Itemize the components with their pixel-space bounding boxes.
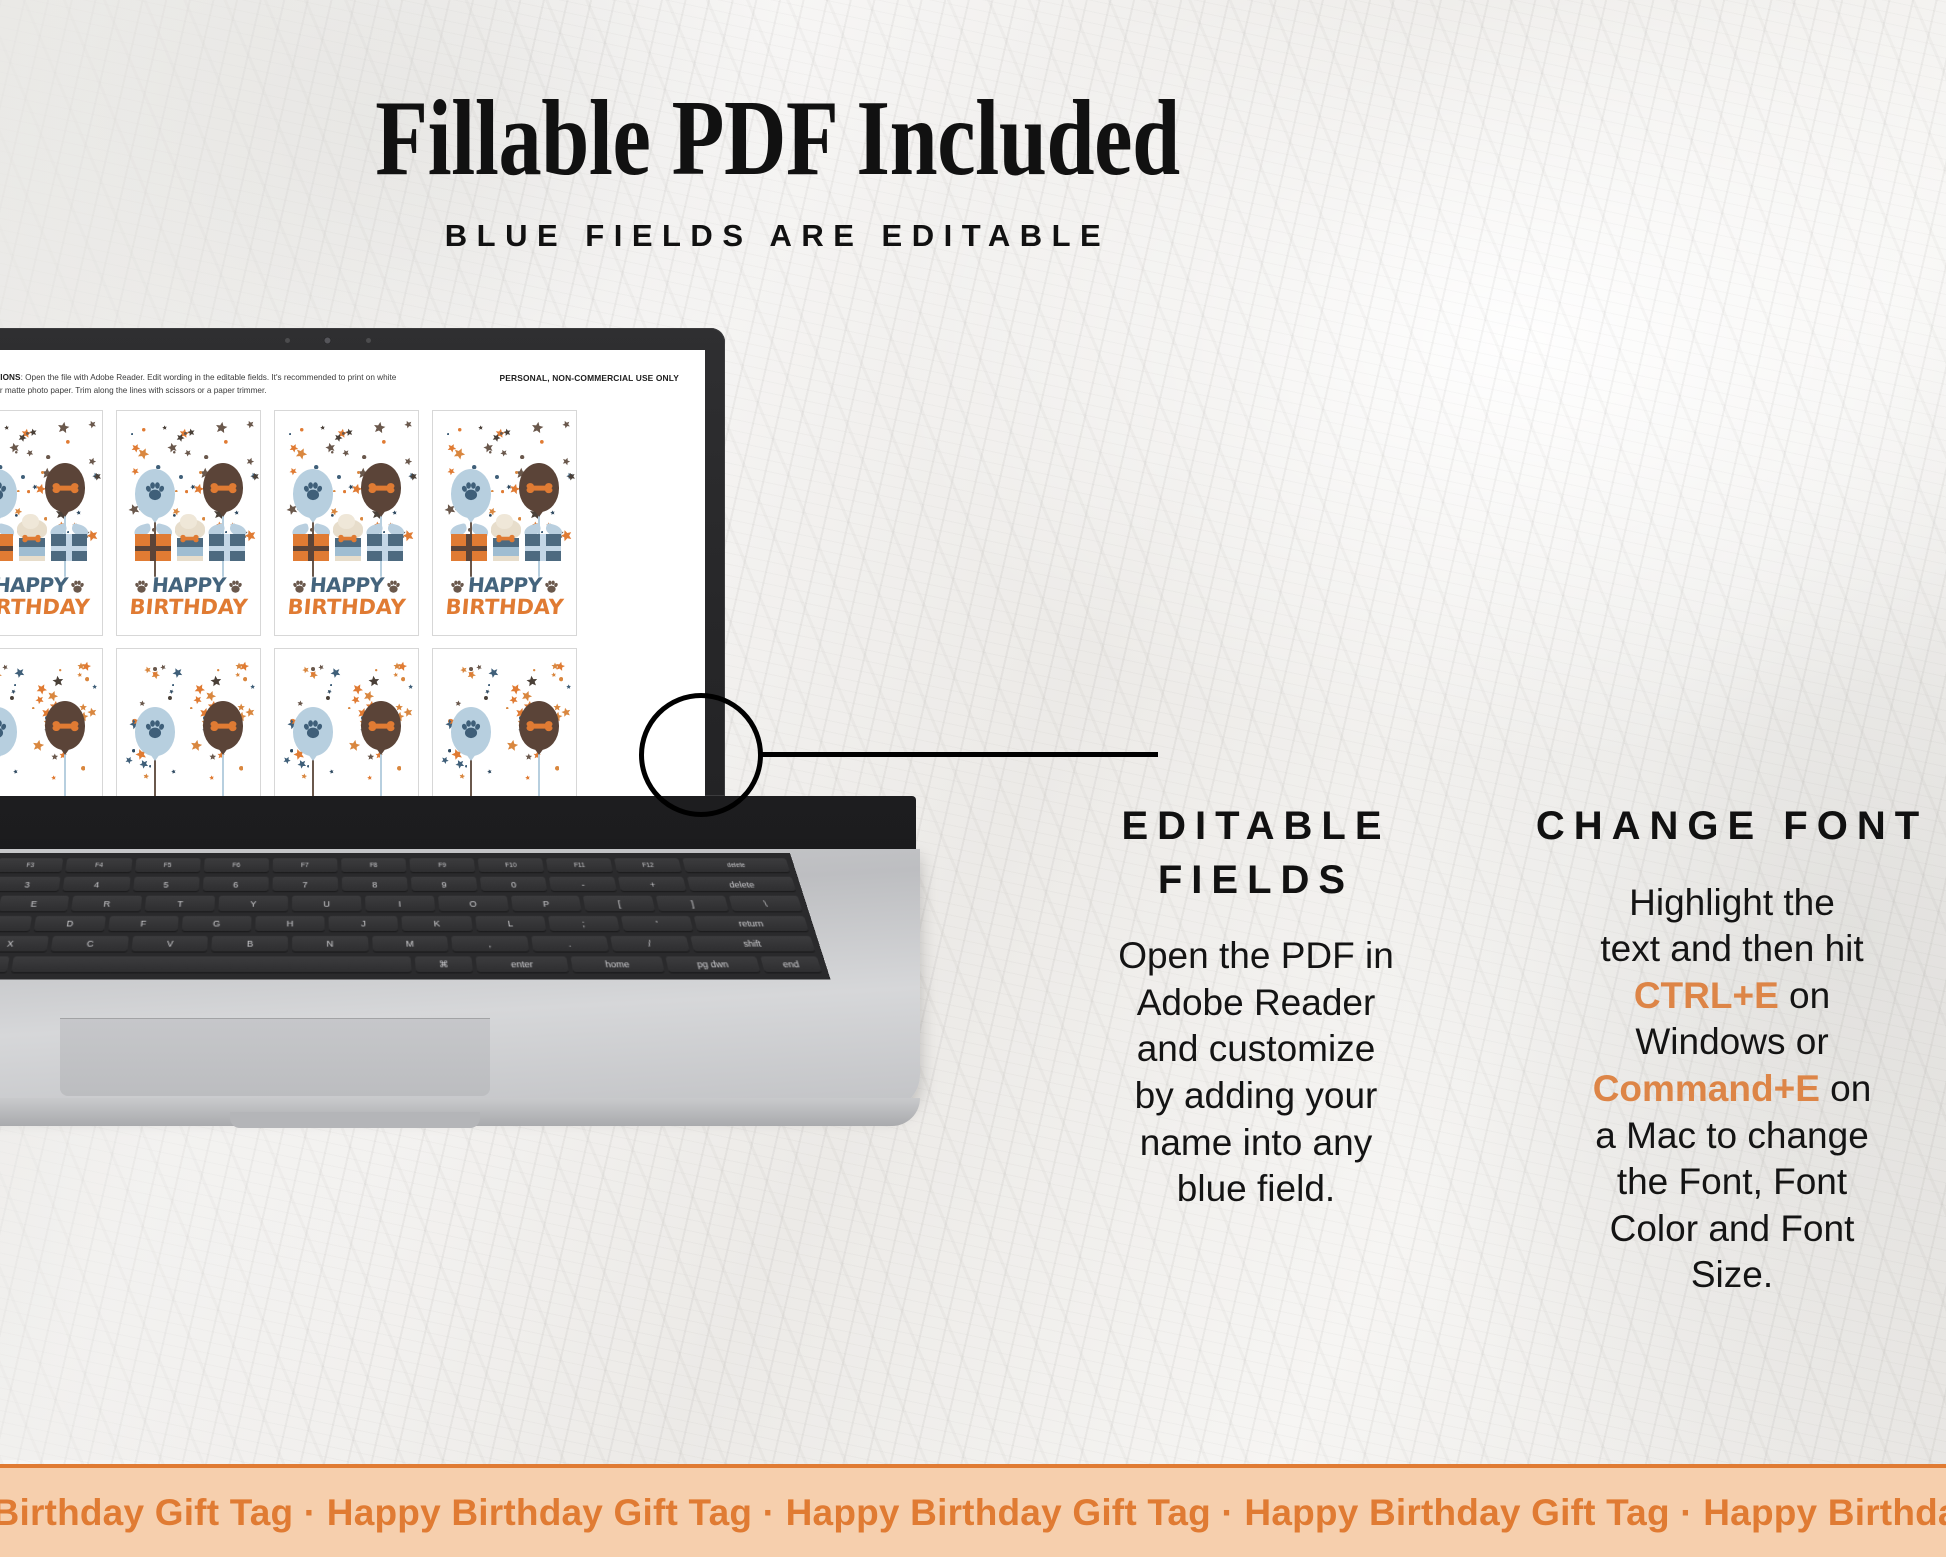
pdf-page: INSTRUCTIONS: Open the file with Adobe R… [0, 350, 705, 796]
keyboard-key[interactable]: J [329, 916, 399, 932]
keyboard-key[interactable]: enter [475, 956, 568, 973]
balloon-bone-icon [361, 463, 401, 512]
balloon-paw-icon [135, 469, 175, 518]
page-subtitle: BLUE FIELDS ARE EDITABLE [0, 218, 1555, 254]
keyboard-key[interactable]: F3 [0, 858, 64, 873]
body-line: Color and Font [1492, 1206, 1946, 1253]
keyboard-key[interactable]: F6 [204, 858, 269, 873]
balloon-string-left [154, 755, 156, 796]
gift-tag-card[interactable] [0, 648, 103, 796]
laptop-mockup: INSTRUCTIONS: Open the file with Adobe R… [0, 328, 990, 1148]
keyboard-key[interactable]: , [451, 936, 529, 953]
column-body-editable-fields: Open the PDF inAdobe Readerand customize… [1016, 933, 1496, 1213]
keyboard-key[interactable]: 6 [203, 877, 269, 892]
keyboard-key[interactable]: 0 [480, 877, 548, 892]
keyboard-row: caps lockASDFGHJKL;'return [0, 916, 809, 932]
gift-box-icon [451, 525, 487, 561]
body-line: the Font, Font [1492, 1159, 1946, 1206]
keyboard-key[interactable]: M [372, 936, 449, 953]
page-title: Fillable PDF Included [156, 84, 1400, 194]
keyboard-key[interactable]: V [131, 936, 208, 953]
tag-word-happy: HAPPY [467, 573, 543, 597]
instructions-label: INSTRUCTIONS [0, 373, 21, 382]
keyboard-key[interactable]: [ [583, 896, 655, 912]
gift-box-icon [209, 525, 245, 561]
keyboard-key[interactable]: F5 [135, 858, 201, 873]
balloon-bone-icon [45, 701, 85, 750]
body-line: by adding your [1016, 1073, 1496, 1120]
laptop-keyboard: escF1F2F3F4F5F6F7F8F9F10F11F12delete~123… [0, 853, 831, 979]
tag-wordmark: HAPPYBIRTHDAY [433, 573, 576, 619]
tag-word-happy: HAPPY [309, 573, 385, 597]
balloon-bone-icon [45, 463, 85, 512]
tag-word-birthday: BIRTHDAY [0, 595, 103, 619]
gift-box-icon [293, 525, 329, 561]
balloon-string-right [538, 749, 540, 796]
keyboard-key[interactable]: ⌘ [0, 956, 10, 973]
cupcake-icon [489, 519, 523, 561]
keyboard-key[interactable]: - [549, 877, 617, 892]
paw-print-icon-left [292, 579, 307, 594]
body-line: a Mac to change [1492, 1113, 1946, 1160]
body-line: CTRL+E on [1492, 973, 1946, 1020]
keyboard-key[interactable]: \ [729, 896, 803, 912]
balloon-string-left [470, 755, 472, 796]
keyboard-key[interactable]: / [610, 936, 689, 953]
keyboard-key[interactable]: delete [687, 877, 796, 892]
pdf-instructions: INSTRUCTIONS: Open the file with Adobe R… [0, 372, 428, 397]
webcam-strip [285, 336, 371, 345]
balloon-string-right [222, 749, 224, 796]
keyboard-key[interactable]: 5 [133, 877, 200, 892]
tag-word-happy: HAPPY [0, 573, 68, 597]
body-line: blue field. [1016, 1166, 1496, 1213]
keyboard-key[interactable]: 8 [342, 877, 408, 892]
balloon-paw-icon [135, 707, 175, 756]
gift-box-icon [135, 525, 171, 561]
gift-box-icon [51, 525, 87, 561]
keyboard-row: escF1F2F3F4F5F6F7F8F9F10F11F12delete [0, 858, 790, 873]
keyboard-key[interactable]: F10 [478, 858, 545, 873]
balloon-paw-icon [0, 469, 17, 518]
balloon-bone-icon [519, 463, 559, 512]
keyboard-key[interactable]: end [760, 956, 822, 973]
keyboard-key[interactable]: F4 [66, 858, 132, 873]
keyboard-key[interactable]: O [438, 896, 509, 912]
keyboard-key[interactable] [11, 956, 411, 973]
tag-word-happy: HAPPY [151, 573, 227, 597]
keyboard-key[interactable]: L [475, 916, 546, 932]
balloon-paw-icon [0, 707, 17, 756]
gift-tag-card[interactable]: HAPPYBIRTHDAY [274, 410, 419, 636]
body-line: Command+E on [1492, 1066, 1946, 1113]
paw-print-icon-right [386, 579, 401, 594]
keyboard-key[interactable]: T [145, 896, 215, 912]
balloon-string-right [64, 749, 66, 796]
gift-box-icon [367, 525, 403, 561]
keyboard-key[interactable]: E [0, 896, 70, 912]
laptop-lid: INSTRUCTIONS: Open the file with Adobe R… [0, 328, 725, 796]
keyboard-key[interactable]: . [531, 936, 610, 953]
column-heading-change-font: CHANGE FONT [1492, 800, 1946, 854]
laptop-lip-notch [230, 1112, 480, 1128]
tag-word-birthday: BIRTHDAY [116, 595, 261, 619]
gift-tag-grid-row-2 [0, 648, 679, 796]
tag-word-birthday: BIRTHDAY [274, 595, 419, 619]
banner-text: Happy Birthday Gift Tag · Happy Birthday… [0, 1492, 1946, 1534]
keyboard-key[interactable]: ⌘ [415, 956, 473, 973]
keyboard-key[interactable]: pg dwn [665, 956, 760, 973]
balloon-paw-icon [451, 469, 491, 518]
keyboard-key[interactable]: F12 [614, 858, 682, 873]
gift-box-icon [0, 525, 13, 561]
paw-print-icon-left [450, 579, 465, 594]
keyboard-key[interactable]: D [34, 916, 105, 932]
magnifier-callout-circle [639, 693, 763, 817]
keyboard-key[interactable]: F [108, 916, 179, 932]
keyboard-key[interactable]: home [570, 956, 664, 973]
keyboard-key[interactable]: ; [548, 916, 620, 932]
keyboard-key[interactable]: shift [690, 936, 816, 953]
balloon-string-right [380, 749, 382, 796]
keyboard-row: tabQWERTYUIOP[]\ [0, 896, 803, 912]
keyboard-key[interactable]: S [0, 916, 32, 932]
keyboard-key[interactable]: U [292, 896, 361, 912]
keyboard-key[interactable]: 9 [411, 877, 478, 892]
callout-leader-line [762, 752, 1158, 757]
gift-tag-card[interactable] [116, 648, 261, 796]
tag-wordmark: HAPPYBIRTHDAY [275, 573, 418, 619]
gift-tag-card[interactable] [274, 648, 419, 796]
gift-box-icon [525, 525, 561, 561]
tag-wordmark: HAPPYBIRTHDAY [117, 573, 260, 619]
cupcake-icon [173, 519, 207, 561]
keyboard-key[interactable]: P [511, 896, 583, 912]
usage-notice: PERSONAL, NON-COMMERCIAL USE ONLY [500, 372, 679, 383]
pdf-header-row: INSTRUCTIONS: Open the file with Adobe R… [0, 372, 679, 397]
keyboard-key[interactable]: C [51, 936, 129, 953]
gift-tag-card[interactable]: HAPPYBIRTHDAY [0, 410, 103, 636]
keyboard-row: ctrlalt option⌘⌘enterhomepg dwnend [0, 956, 822, 973]
balloon-bone-icon [519, 701, 559, 750]
balloon-bone-icon [361, 701, 401, 750]
keyboard-key[interactable]: ] [656, 896, 729, 912]
keyboard-key[interactable]: Y [219, 896, 288, 912]
balloon-bone-icon [203, 463, 243, 512]
keyboard-row: shiftZXCVBNM,./shift [0, 936, 815, 953]
keyboard-key[interactable]: 7 [272, 877, 338, 892]
keyboard-key[interactable]: N [292, 936, 368, 953]
keyboard-key[interactable]: B [212, 936, 288, 953]
column-body-change-font: Highlight thetext and then hitCTRL+E onW… [1492, 880, 1946, 1299]
balloon-paw-icon [293, 707, 333, 756]
balloon-bone-icon [203, 701, 243, 750]
keyboard-key[interactable]: R [71, 896, 142, 912]
body-line: Adobe Reader [1016, 980, 1496, 1027]
cupcake-icon [15, 519, 49, 561]
keyboard-key[interactable]: F8 [341, 858, 406, 873]
keyboard-key[interactable]: F11 [546, 858, 613, 873]
gift-tag-card[interactable]: HAPPYBIRTHDAY [116, 410, 261, 636]
keyboard-key[interactable]: 4 [63, 877, 130, 892]
bottom-banner: Happy Birthday Gift Tag · Happy Birthday… [0, 1464, 1946, 1557]
keyboard-key[interactable]: H [255, 916, 325, 932]
keyboard-row: ~1234567890-+delete [0, 877, 796, 892]
keyboard-key[interactable]: delete [683, 858, 791, 873]
instructions-text: : Open the file with Adobe Reader. Edit … [0, 373, 396, 395]
tag-wordmark: HAPPYBIRTHDAY [0, 573, 102, 619]
keyboard-key[interactable]: ' [621, 916, 694, 932]
body-line: Windows or [1492, 1019, 1946, 1066]
column-heading-editable-fields: EDITABLE FIELDS [1016, 800, 1496, 907]
paw-print-icon-right [544, 579, 559, 594]
balloon-paw-icon [293, 469, 333, 518]
body-line: name into any [1016, 1120, 1496, 1167]
webcam-icon [323, 336, 332, 345]
keyboard-key[interactable]: F7 [273, 858, 338, 873]
keyboard-key[interactable]: return [694, 916, 809, 932]
balloon-string-left [312, 755, 314, 796]
paw-print-icon-right [70, 579, 85, 594]
keyboard-key[interactable]: F9 [409, 858, 475, 873]
body-line: Open the PDF in [1016, 933, 1496, 980]
column-change-font: CHANGE FONT Highlight thetext and then h… [1492, 800, 1946, 1299]
body-line: and customize [1016, 1026, 1496, 1073]
keyboard-key[interactable]: K [402, 916, 473, 932]
keyboard-key[interactable]: X [0, 936, 49, 953]
sensor-dot-right-icon [366, 338, 371, 343]
keyboard-key[interactable]: I [365, 896, 435, 912]
trackpad [60, 1018, 490, 1096]
sensor-dot-left-icon [285, 338, 290, 343]
gift-tag-card[interactable]: HAPPYBIRTHDAY [432, 410, 577, 636]
gift-tag-card[interactable] [432, 648, 577, 796]
keyboard-shortcut-highlight: CTRL+E [1634, 975, 1779, 1016]
paw-print-icon-left [134, 579, 149, 594]
keyboard-key[interactable]: G [182, 916, 252, 932]
column-editable-fields: EDITABLE FIELDS Open the PDF inAdobe Rea… [1016, 800, 1496, 1213]
tag-word-birthday: BIRTHDAY [432, 595, 577, 619]
gift-tag-grid-row-1: HAPPYBIRTHDAYHAPPYBIRTHDAYHAPPYBIRTHDAYH… [0, 410, 679, 636]
balloon-paw-icon [451, 707, 491, 756]
laptop-screen: INSTRUCTIONS: Open the file with Adobe R… [0, 350, 705, 796]
body-line: Highlight the [1492, 880, 1946, 927]
keyboard-shortcut-highlight: Command+E [1593, 1068, 1820, 1109]
keyboard-key[interactable]: 3 [0, 877, 61, 892]
keyboard-key[interactable]: + [618, 877, 687, 892]
paw-print-icon-right [228, 579, 243, 594]
body-line: text and then hit [1492, 926, 1946, 973]
cupcake-icon [331, 519, 365, 561]
body-line: Size. [1492, 1252, 1946, 1299]
